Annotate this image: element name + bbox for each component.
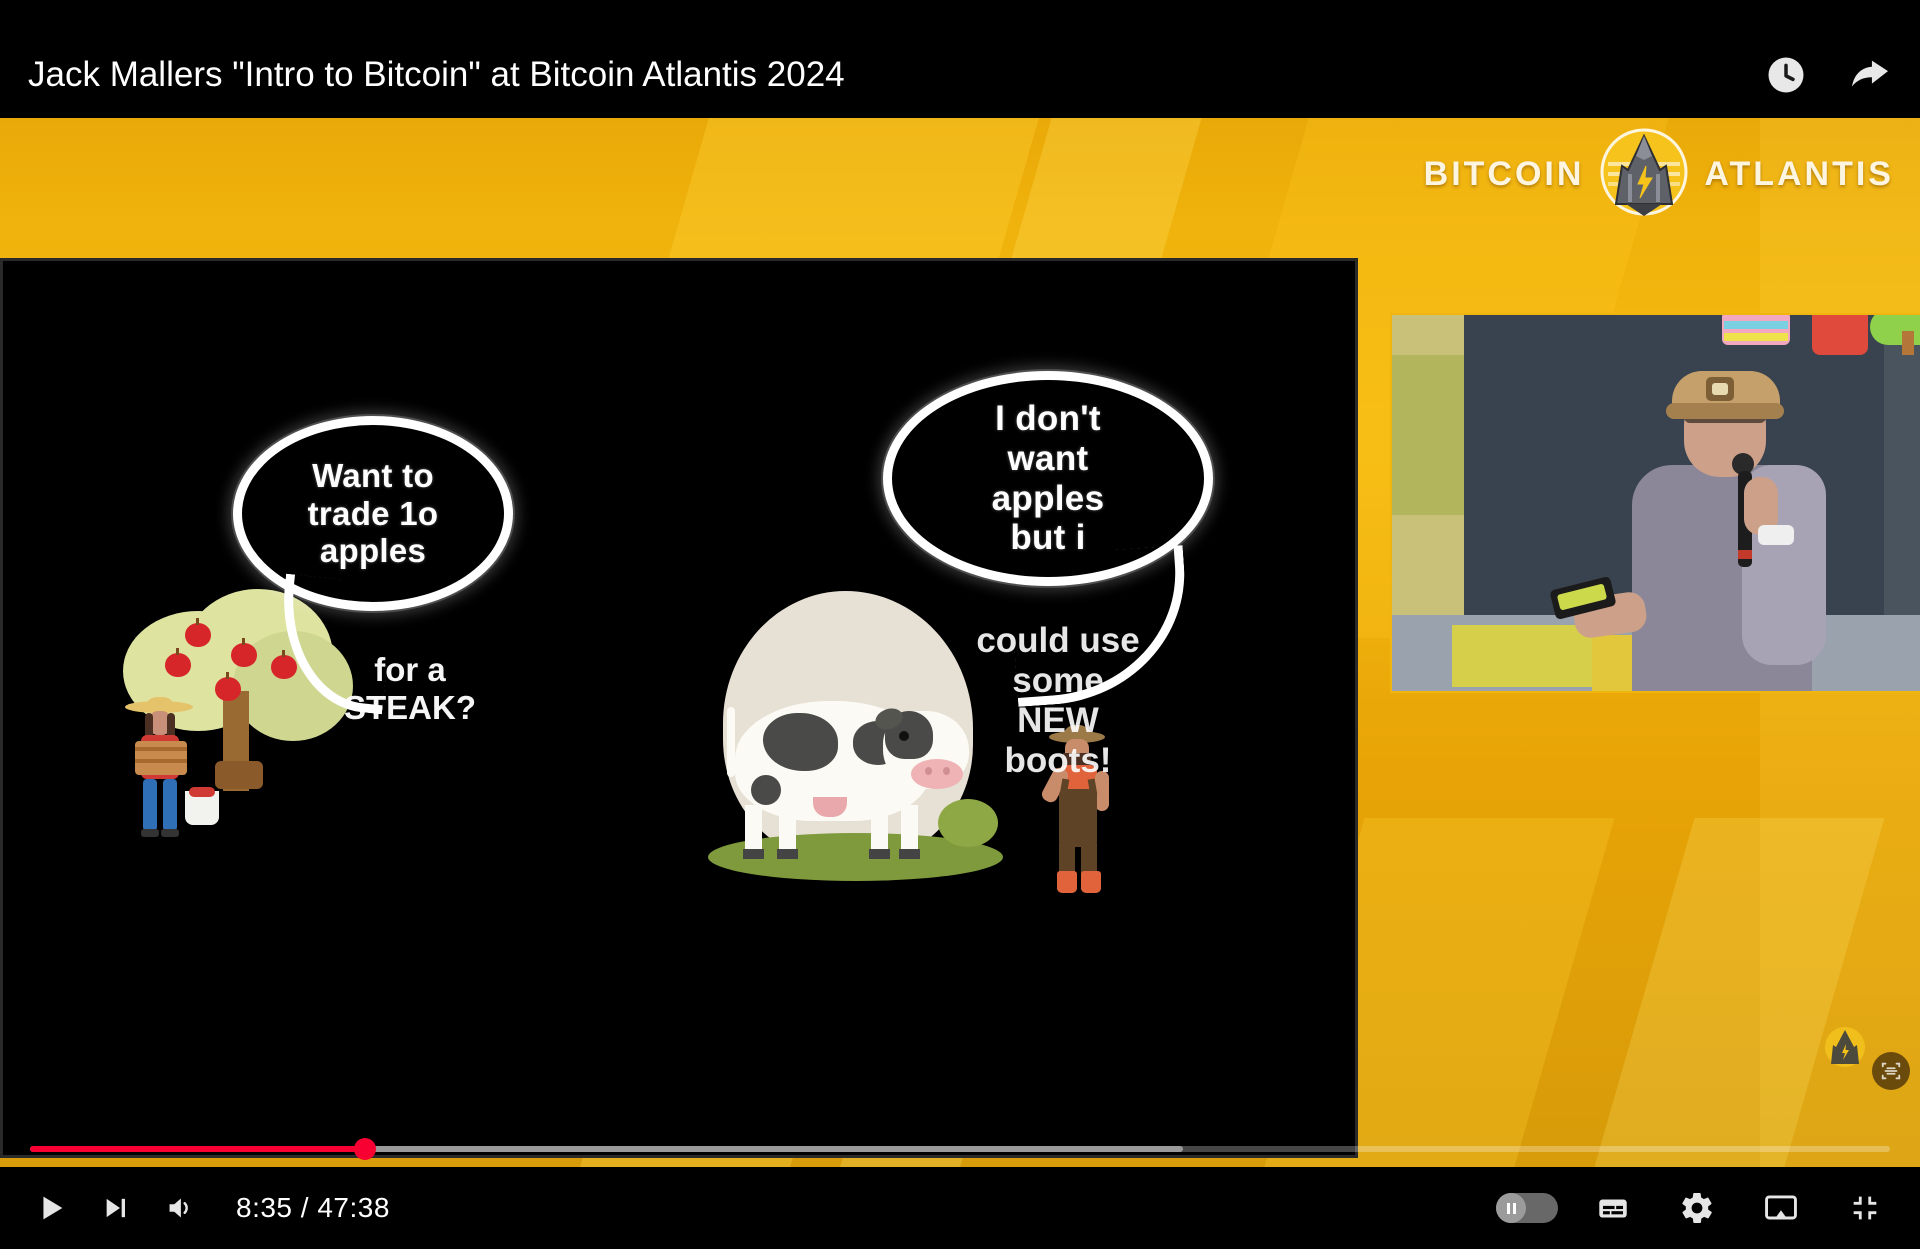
subtitles-icon[interactable] <box>1584 1179 1642 1237</box>
speaker-figure <box>1592 345 1842 693</box>
video-player: BITCOIN ATLANTIS <box>0 0 1920 1249</box>
speech-bubble-right-text: I don't want apples but i <box>992 399 1105 559</box>
bitcoin-atlantis-mountain-logo <box>1598 126 1690 223</box>
watch-later-icon[interactable] <box>1762 51 1810 99</box>
progress-bar[interactable] <box>0 1131 1920 1167</box>
player-title-bar: Jack Mallers "Intro to Bitcoin" at Bitco… <box>0 0 1920 118</box>
speech-bubble-left-text: Want to trade 1o apples <box>308 457 439 570</box>
settings-gear-icon[interactable] <box>1668 1179 1726 1237</box>
wristband <box>1758 525 1794 545</box>
right-controls <box>1496 1179 1920 1237</box>
player-controls: 8:35 / 47:38 <box>0 1131 1920 1249</box>
brand-word-right: ATLANTIS <box>1704 155 1894 194</box>
scan-qr-badge[interactable] <box>1872 1052 1910 1090</box>
bitcoin-atlantis-brand-lockup: BITCOIN ATLANTIS <box>1424 126 1894 223</box>
brand-word-left: BITCOIN <box>1424 155 1585 194</box>
speech-bubble-left-text-overflow: for a STEAK? <box>285 651 535 726</box>
speech-bubble-right-text-overflow: could use some NEW boots! <box>943 621 1173 781</box>
title-actions <box>1762 51 1894 99</box>
time-display: 8:35 / 47:38 <box>236 1192 390 1224</box>
exit-fullscreen-icon[interactable] <box>1836 1179 1894 1237</box>
channel-watermark-logo[interactable] <box>1822 1024 1868 1070</box>
share-icon[interactable] <box>1846 51 1894 99</box>
next-video-button[interactable] <box>86 1179 144 1237</box>
autoplay-toggle[interactable] <box>1496 1193 1558 1223</box>
progress-track[interactable] <box>30 1146 1890 1152</box>
play-button[interactable] <box>22 1179 80 1237</box>
volume-button[interactable] <box>150 1179 208 1237</box>
autoplay-toggle-knob <box>1496 1193 1526 1223</box>
control-button-bar: 8:35 / 47:38 <box>0 1167 1920 1249</box>
farmer-figure <box>131 701 191 851</box>
left-controls: 8:35 / 47:38 <box>0 1179 390 1237</box>
progress-played <box>30 1146 365 1152</box>
video-stage[interactable]: BITCOIN ATLANTIS <box>0 118 1920 1198</box>
play-on-tv-cast-icon[interactable] <box>1752 1179 1810 1237</box>
progress-scrubber-handle[interactable] <box>354 1138 376 1160</box>
video-title: Jack Mallers "Intro to Bitcoin" at Bitco… <box>28 55 845 95</box>
speaker-cap-brim <box>1666 403 1784 419</box>
presentation-slide: Want to trade 1o apples for a STEAK? I d… <box>0 258 1358 1158</box>
speaker-camera-inset <box>1390 313 1920 693</box>
